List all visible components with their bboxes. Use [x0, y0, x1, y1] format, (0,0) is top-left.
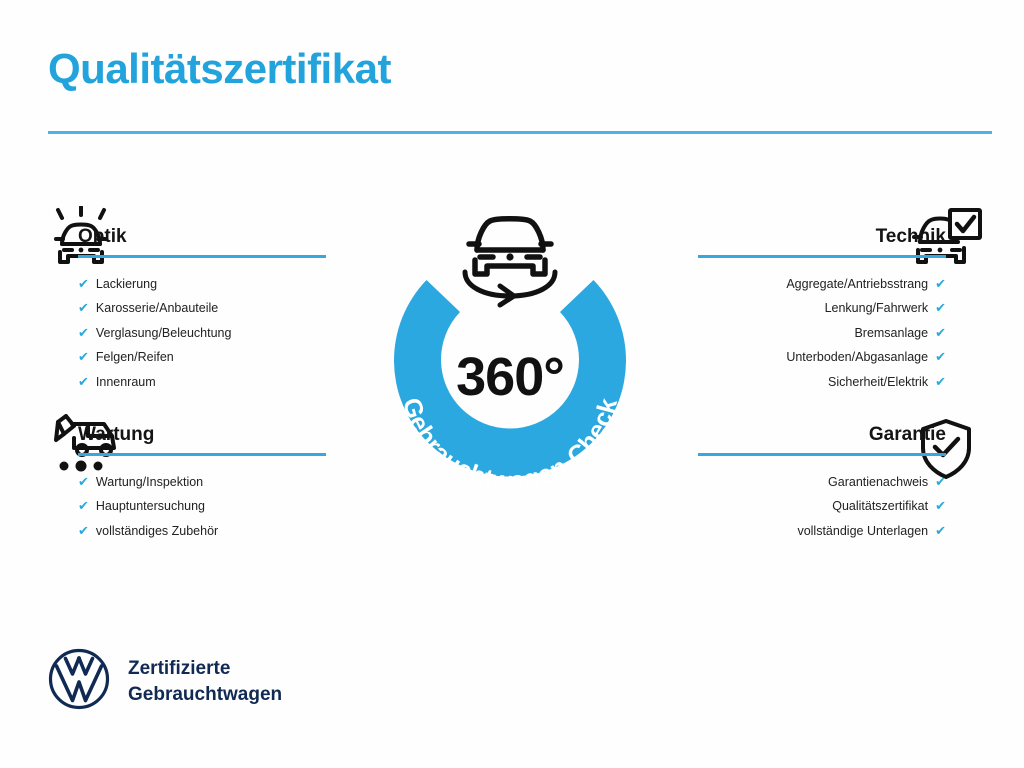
check-icon: ✔	[78, 325, 89, 340]
check-icon: ✔	[935, 523, 946, 538]
section-optik: Optik ✔Lackierung ✔Karosserie/Anbauteile…	[78, 226, 378, 394]
list-item: ✔Lackierung	[78, 272, 378, 297]
check-icon: ✔	[78, 374, 89, 389]
list-item-label: Innenraum	[96, 375, 156, 389]
list-item: Aggregate/Antriebsstrang✔	[646, 272, 946, 297]
list-item-label: Lackierung	[96, 277, 157, 291]
section-optik-list: ✔Lackierung ✔Karosserie/Anbauteile ✔Verg…	[78, 272, 378, 395]
section-wartung-heading: Wartung	[78, 424, 378, 453]
check-icon: ✔	[78, 349, 89, 364]
list-item-label: Qualitätszertifikat	[832, 499, 928, 513]
list-item-label: Bremsanlage	[854, 326, 928, 340]
list-item-label: vollständiges Zubehör	[96, 524, 218, 538]
check-icon: ✔	[935, 349, 946, 364]
check-icon: ✔	[78, 523, 89, 538]
brand-line-2: Gebrauchtwagen	[128, 684, 282, 705]
list-item-label: Aggregate/Antriebsstrang	[786, 277, 928, 291]
brand-line-1: Zertifizierte	[128, 658, 230, 679]
list-item: ✔Innenraum	[78, 370, 378, 395]
list-item-label: Wartung/Inspektion	[96, 475, 203, 489]
list-item-label: Felgen/Reifen	[96, 350, 174, 364]
section-technik-list: Aggregate/Antriebsstrang✔ Lenkung/Fahrwe…	[646, 272, 946, 395]
check-icon: ✔	[78, 276, 89, 291]
list-item: vollständige Unterlagen✔	[646, 519, 946, 544]
badge-360-check: Gebrauchtwagen-Check 360°	[375, 200, 645, 500]
check-icon: ✔	[78, 474, 89, 489]
list-item-label: Karosserie/Anbauteile	[96, 301, 218, 315]
list-item: ✔Hauptuntersuchung	[78, 494, 378, 519]
check-icon: ✔	[935, 474, 946, 489]
list-item: Unterboden/Abgasanlage✔	[646, 345, 946, 370]
section-wartung-divider	[78, 453, 326, 456]
list-item: ✔Verglasung/Beleuchtung	[78, 321, 378, 346]
section-garantie-heading: Garantie	[646, 424, 946, 453]
list-item: ✔Wartung/Inspektion	[78, 470, 378, 495]
list-item: Lenkung/Fahrwerk✔	[646, 296, 946, 321]
badge-value: 360°	[375, 346, 645, 408]
check-icon: ✔	[935, 325, 946, 340]
list-item-label: Garantienachweis	[828, 475, 928, 489]
list-item: Qualitätszertifikat✔	[646, 494, 946, 519]
section-garantie-divider	[698, 453, 946, 456]
list-item: Garantienachweis✔	[646, 470, 946, 495]
list-item: Sicherheit/Elektrik✔	[646, 370, 946, 395]
list-item: ✔vollständiges Zubehör	[78, 519, 378, 544]
section-optik-divider	[78, 255, 326, 258]
brand-footer: ZertifizierteGebrauchtwagen	[48, 648, 282, 715]
brand-text: ZertifizierteGebrauchtwagen	[128, 656, 282, 706]
list-item-label: Sicherheit/Elektrik	[828, 375, 928, 389]
list-item-label: Verglasung/Beleuchtung	[96, 326, 232, 340]
list-item-label: vollständige Unterlagen	[797, 524, 928, 538]
list-item: ✔Karosserie/Anbauteile	[78, 296, 378, 321]
check-icon: ✔	[935, 276, 946, 291]
section-optik-heading: Optik	[78, 226, 378, 255]
volkswagen-logo	[48, 648, 110, 715]
certificate-page: Qualitätszertifikat	[0, 0, 1024, 768]
list-item-label: Lenkung/Fahrwerk	[825, 301, 929, 315]
page-title: Qualitätszertifikat	[48, 46, 391, 92]
section-technik-divider	[698, 255, 946, 258]
section-wartung: Wartung ✔Wartung/Inspektion ✔Hauptunters…	[78, 424, 378, 543]
check-icon: ✔	[78, 498, 89, 513]
check-icon: ✔	[935, 300, 946, 315]
car-front-rotate-icon	[465, 219, 555, 305]
list-item-label: Unterboden/Abgasanlage	[786, 350, 928, 364]
list-item: ✔Felgen/Reifen	[78, 345, 378, 370]
section-garantie: Garantie Garantienachweis✔ Qualitätszert…	[646, 424, 946, 543]
check-icon: ✔	[935, 374, 946, 389]
section-technik-heading: Technik	[646, 226, 946, 255]
list-item-label: Hauptuntersuchung	[96, 499, 205, 513]
check-icon: ✔	[935, 498, 946, 513]
section-garantie-list: Garantienachweis✔ Qualitätszertifikat✔ v…	[646, 470, 946, 544]
check-icon: ✔	[78, 300, 89, 315]
section-wartung-list: ✔Wartung/Inspektion ✔Hauptuntersuchung ✔…	[78, 470, 378, 544]
list-item: Bremsanlage✔	[646, 321, 946, 346]
title-divider	[48, 131, 992, 134]
section-technik: Technik Aggregate/Antriebsstrang✔ Lenkun…	[646, 226, 946, 394]
